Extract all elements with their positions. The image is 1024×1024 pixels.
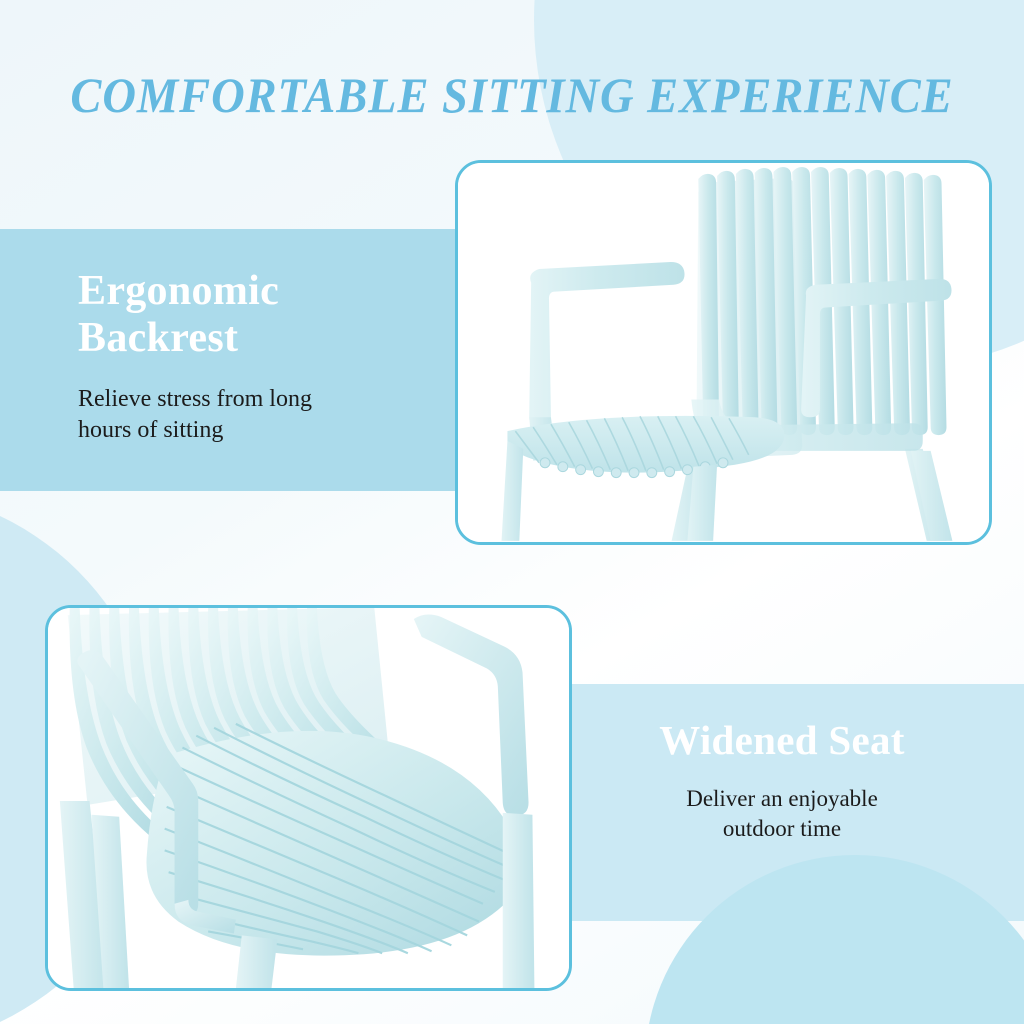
chair-backrest-photo bbox=[458, 163, 989, 542]
feature-text-backrest: Ergonomic Backrest Relieve stress from l… bbox=[78, 268, 448, 446]
feature-subtitle-line1: Relieve stress from long bbox=[78, 384, 448, 415]
feature-subtitle-seat: Deliver an enjoyable outdoor time bbox=[592, 784, 972, 844]
page-title: COMFORTABLE SITTING EXPERIENCE bbox=[36, 66, 988, 124]
feature-text-seat: Widened Seat Deliver an enjoyable outdoo… bbox=[592, 718, 972, 844]
feature-image-seat bbox=[45, 605, 572, 991]
feature-title-backrest: Ergonomic Backrest bbox=[78, 268, 448, 362]
feature-title-seat: Widened Seat bbox=[592, 718, 972, 764]
feature-title-line1: Widened Seat bbox=[592, 718, 972, 764]
feature-image-backrest bbox=[455, 160, 992, 545]
feature-subtitle-line1: Deliver an enjoyable bbox=[592, 784, 972, 814]
feature-title-line2: Backrest bbox=[78, 315, 448, 362]
infographic-poster: COMFORTABLE SITTING EXPERIENCE bbox=[0, 0, 1024, 1024]
chair-seat-photo bbox=[48, 608, 569, 988]
feature-subtitle-backrest: Relieve stress from long hours of sittin… bbox=[78, 384, 448, 446]
feature-subtitle-line2: hours of sitting bbox=[78, 415, 448, 446]
feature-title-line1: Ergonomic bbox=[78, 268, 448, 315]
feature-subtitle-line2: outdoor time bbox=[592, 814, 972, 844]
